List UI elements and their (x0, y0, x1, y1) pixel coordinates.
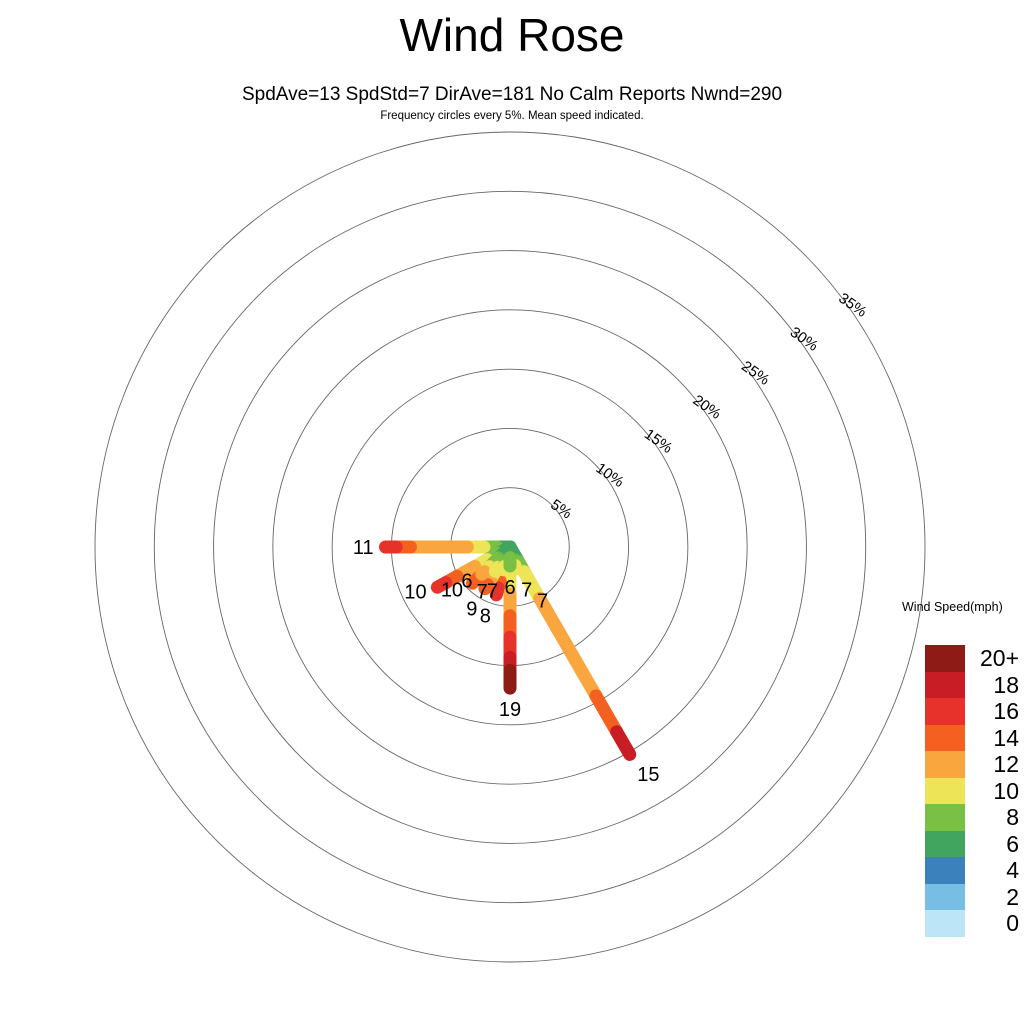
legend-title: Wind Speed(mph) (902, 600, 1024, 614)
petal-label: 10 (404, 582, 426, 604)
ring-label: 20% (690, 392, 724, 423)
petal-segment (617, 732, 630, 755)
petal-label: 7 (521, 579, 532, 601)
wind-rose-page: Wind Rose SpdAve=13 SpdStd=7 DirAve=181 … (0, 0, 1024, 1024)
petal-label: 6 (504, 577, 515, 599)
legend-label: 4 (971, 857, 1019, 884)
legend-swatch (925, 645, 965, 672)
legend-label: 12 (971, 751, 1019, 778)
legend-label: 16 (971, 698, 1019, 725)
legend-label: 2 (971, 884, 1019, 911)
legend-swatch (925, 751, 965, 778)
legend-label: 20+ (971, 645, 1019, 672)
legend-swatch (925, 831, 965, 858)
legend-swatch (925, 910, 965, 937)
petal-label: 7 (477, 581, 488, 603)
legend-label: 0 (971, 910, 1019, 937)
ring-label: 25% (738, 358, 772, 389)
petal-label: 11 (353, 537, 374, 559)
legend-swatch (925, 672, 965, 699)
petal-label: 8 (480, 605, 491, 627)
petal-label: 7 (487, 580, 498, 602)
petal-segment (540, 598, 596, 696)
legend-label: 14 (971, 725, 1019, 752)
legend-label: 18 (971, 672, 1019, 699)
petal-label: 10 (441, 579, 463, 601)
ring-label: 5% (547, 496, 575, 522)
legend-swatch (925, 698, 965, 725)
ring-label: 10% (593, 460, 627, 491)
legend-labels: 20+181614121086420 (971, 645, 1019, 937)
legend-label: 10 (971, 778, 1019, 805)
ring-label: 15% (641, 426, 675, 457)
legend-body: 20+181614121086420 (925, 645, 1019, 937)
legend-swatch (925, 804, 965, 831)
legend-swatch (925, 778, 965, 805)
legend-swatches (925, 645, 965, 937)
petal-label: 15 (637, 764, 659, 786)
legend-label: 8 (971, 804, 1019, 831)
legend-swatch (925, 725, 965, 752)
legend-label: 6 (971, 831, 1019, 858)
ring-labels: 5%10%15%20%25%30%35% (547, 290, 869, 523)
petal-label: 7 (537, 591, 548, 613)
petal-label: 9 (466, 598, 477, 620)
wind-speed-legend: Wind Speed(mph) 20+181614121086420 (900, 600, 1024, 614)
ring-label: 35% (835, 290, 869, 321)
petal-segment (482, 572, 485, 574)
legend-swatch (925, 884, 965, 911)
legend-swatch (925, 857, 965, 884)
ring-label: 30% (787, 324, 821, 355)
wind-rose-plot: 5%10%15%20%25%30%35% 776776151989101011 (0, 0, 1024, 1024)
petal-label: 19 (499, 699, 521, 721)
